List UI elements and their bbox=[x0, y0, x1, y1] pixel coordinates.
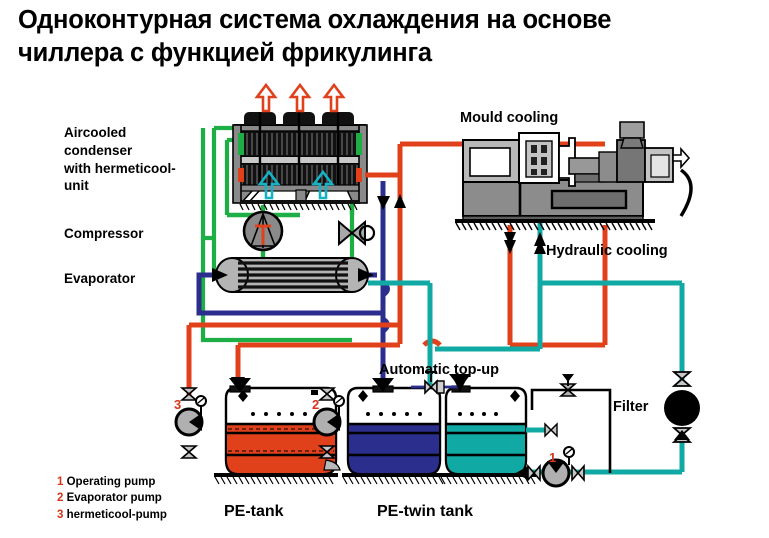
aircooled-line-2: condenser bbox=[64, 142, 176, 160]
hydraulic-cooling-label: Hydraulic cooling bbox=[546, 243, 668, 259]
pe-tank-label: PE-tank bbox=[224, 503, 284, 521]
legend-text: Evaporator pump bbox=[67, 492, 162, 504]
aircooled-line-4: unit bbox=[64, 177, 176, 195]
legend-text: Operating pump bbox=[67, 476, 156, 488]
compressor bbox=[244, 212, 282, 250]
legend-num: 1 bbox=[57, 476, 63, 488]
teal-return-valve bbox=[545, 424, 557, 436]
legend-item: 1 Operating pump bbox=[57, 474, 167, 490]
pump-tag-operating: 1 bbox=[549, 450, 556, 465]
expansion-valve bbox=[339, 222, 374, 244]
aircooled-line-1: Aircooled bbox=[64, 124, 176, 142]
pe-twin-tank-blue bbox=[342, 386, 446, 484]
compressor-label: Compressor bbox=[64, 225, 144, 243]
automatic-topup-label: Automatic top-up bbox=[379, 362, 499, 378]
filter-label: Filter bbox=[613, 399, 648, 415]
injection-moulding-machine bbox=[455, 122, 691, 230]
hydraulic-arrow-down bbox=[504, 240, 516, 254]
legend: 1 Operating pump 2 Evaporator pump 3 her… bbox=[57, 474, 167, 523]
legend-item: 3 hermeticool-pump bbox=[57, 507, 167, 523]
evaporator-label: Evaporator bbox=[64, 270, 135, 288]
pe-twin-tank-teal bbox=[440, 386, 536, 484]
legend-text: hermeticool-pump bbox=[67, 509, 167, 521]
legend-item: 2 Evaporator pump bbox=[57, 490, 167, 506]
pump-tag-hermeticool: 3 bbox=[174, 397, 181, 412]
bypass-valve bbox=[561, 374, 575, 396]
aircooled-line-3: with hermeticool- bbox=[64, 160, 176, 178]
pe-twin-tank-label: PE-twin tank bbox=[377, 503, 473, 521]
diagram-canvas: Одноконтурная система охлаждения на осно… bbox=[0, 0, 769, 538]
legend-num: 2 bbox=[57, 492, 63, 504]
aircooled-condenser bbox=[233, 112, 367, 210]
mould-cooling-label: Mould cooling bbox=[460, 110, 558, 126]
evaporator bbox=[216, 258, 368, 292]
schematic-svg bbox=[0, 0, 769, 538]
filter-assembly bbox=[664, 372, 700, 442]
hot-air-arrows bbox=[257, 85, 343, 111]
legend-num: 3 bbox=[57, 509, 63, 521]
pump-tag-evaporator: 2 bbox=[312, 397, 319, 412]
aircooled-condenser-label: Aircooled condenser with hermeticool- un… bbox=[64, 124, 176, 195]
